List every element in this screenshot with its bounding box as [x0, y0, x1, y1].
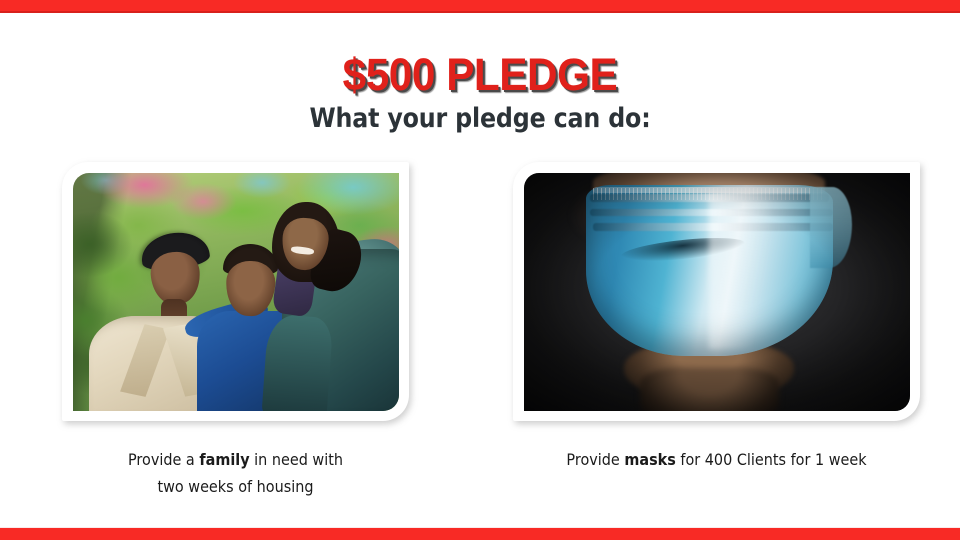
caption-emphasis: family [199, 450, 249, 469]
caption-text: for 400 Clients for 1 week [676, 450, 867, 469]
caption-family-line2: two weeks of housing [157, 477, 313, 496]
caption-text: Provide [566, 450, 624, 469]
surgical-mask-photo [524, 173, 910, 411]
page-subtitle: What your pledge can do: [58, 102, 903, 136]
family-photo [73, 173, 399, 411]
photo-vignette [524, 173, 910, 411]
caption-masks: Provide masks for 400 Clients for 1 week [533, 446, 899, 473]
caption-text: in need with [250, 450, 343, 469]
title-block: $500 PLEDGE What your pledge can do: [0, 50, 960, 136]
woman-face [149, 250, 201, 306]
caption-masks-line1: Provide masks for 400 Clients for 1 week [566, 450, 866, 469]
photo-card-family[interactable] [62, 162, 409, 421]
page-title: $500 PLEDGE [29, 50, 931, 100]
caption-emphasis: masks [624, 450, 675, 469]
bottom-accent-bar [0, 527, 960, 540]
top-accent-bar [0, 0, 960, 13]
caption-family: Provide a family in need with two weeks … [79, 446, 391, 500]
caption-text: Provide a [128, 450, 199, 469]
caption-family-line1: Provide a family in need with [128, 450, 343, 469]
girl-arm [262, 314, 334, 411]
photo-card-masks[interactable] [513, 162, 920, 421]
slide-canvas: $500 PLEDGE What your pledge can do: [0, 0, 960, 540]
